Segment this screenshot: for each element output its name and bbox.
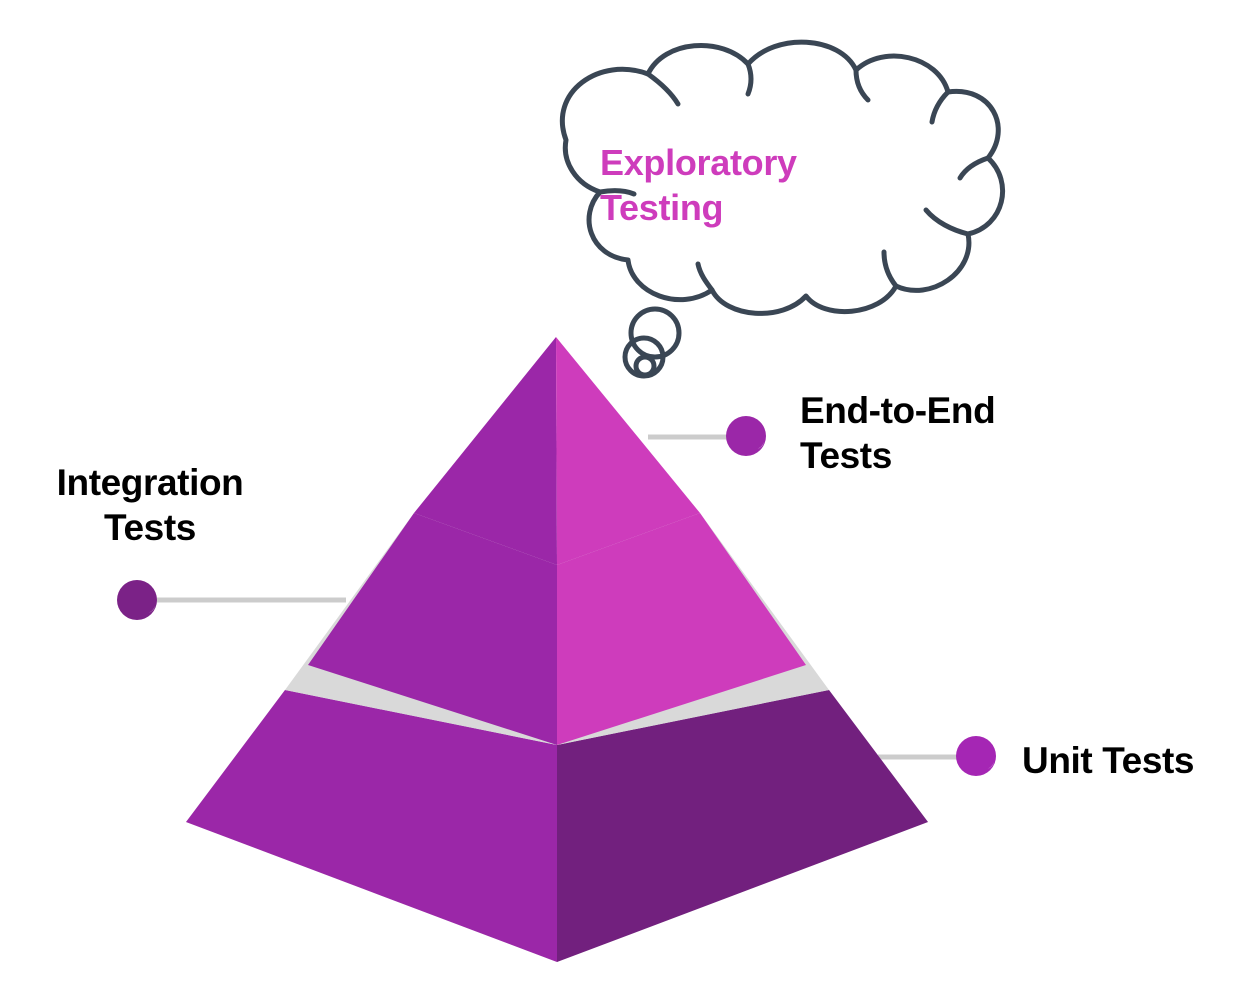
thought-bubble-label: Exploratory Testing [600, 140, 900, 230]
callout-label-end-to-end: End-to-End Tests [800, 388, 1100, 478]
thought-bubble-tail [625, 309, 679, 376]
callout-label-integration: Integration Tests [10, 460, 290, 550]
callout-label-unit: Unit Tests [1022, 738, 1252, 783]
testing-pyramid-diagram: Exploratory Testing End-to-End Tests Int… [0, 0, 1258, 1000]
callout-dot-unit[interactable] [956, 736, 996, 776]
callout-dot-integration[interactable] [117, 580, 157, 620]
callout-dot-end-to-end[interactable] [726, 416, 766, 456]
